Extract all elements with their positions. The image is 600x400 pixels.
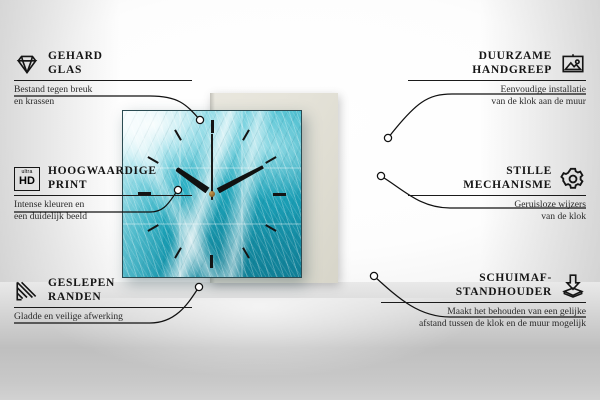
callout-schuimaf-standhouder: SCHUIMAF-STANDHOUDER Maakt het behouden … <box>381 272 586 330</box>
ultra-hd-badge-icon: ultra HD <box>14 167 40 191</box>
callout-stille-mechanisme: STILLEMECHANISME Geruisloze wijzersvan d… <box>408 165 586 223</box>
hour-tick <box>211 194 213 268</box>
callout-subtitle: Gladde en veilige afwerking <box>14 308 192 323</box>
callout-geslepen-randen: GESLEPENRANDEN Gladde en veilige afwerki… <box>14 277 192 323</box>
callout-header: ultra HD HOOGWAARDIGEPRINT <box>14 165 192 195</box>
callout-title: GESLEPENRANDEN <box>48 277 192 304</box>
bevelled-edges-icon <box>14 278 40 304</box>
callout-subtitle: Maakt het behouden van een gelijkeafstan… <box>381 303 586 330</box>
badge-large-text: HD <box>19 176 35 187</box>
callout-title: HOOGWAARDIGEPRINT <box>48 165 192 192</box>
hand-cap <box>209 191 215 197</box>
callout-duurzame-handgreep: DUURZAMEHANDGREEP Eenvoudige installatie… <box>408 50 586 108</box>
callout-header: STILLEMECHANISME <box>408 165 586 195</box>
callout-header: GESLEPENRANDEN <box>14 277 192 307</box>
callout-title: SCHUIMAF-STANDHOUDER <box>381 272 552 299</box>
callout-subtitle: Intense kleuren eneen duidelijk beeld <box>14 196 192 223</box>
second-hand <box>211 134 213 200</box>
callout-title: STILLEMECHANISME <box>408 165 552 192</box>
press-down-pad-icon <box>560 273 586 299</box>
picture-frame-icon <box>560 51 586 77</box>
infographic-stage: GEHARDGLAS Bestand tegen breuken krassen… <box>0 0 600 400</box>
callout-gehard-glas: GEHARDGLAS Bestand tegen breuken krassen <box>14 50 192 108</box>
callout-hoogwaardige-print: ultra HD HOOGWAARDIGEPRINT Intense kleur… <box>14 165 192 223</box>
callout-header: DUURZAMEHANDGREEP <box>408 50 586 80</box>
callout-subtitle: Geruisloze wijzersvan de klok <box>408 196 586 223</box>
gear-icon <box>560 166 586 192</box>
diamond-icon <box>14 51 40 77</box>
callout-title: GEHARDGLAS <box>48 50 192 77</box>
hour-tick <box>212 193 286 195</box>
callout-subtitle: Eenvoudige installatievan de klok aan de… <box>408 81 586 108</box>
callout-title: DUURZAMEHANDGREEP <box>408 50 552 77</box>
callout-subtitle: Bestand tegen breuken krassen <box>14 81 192 108</box>
callout-header: SCHUIMAF-STANDHOUDER <box>381 272 586 302</box>
callout-header: GEHARDGLAS <box>14 50 192 80</box>
